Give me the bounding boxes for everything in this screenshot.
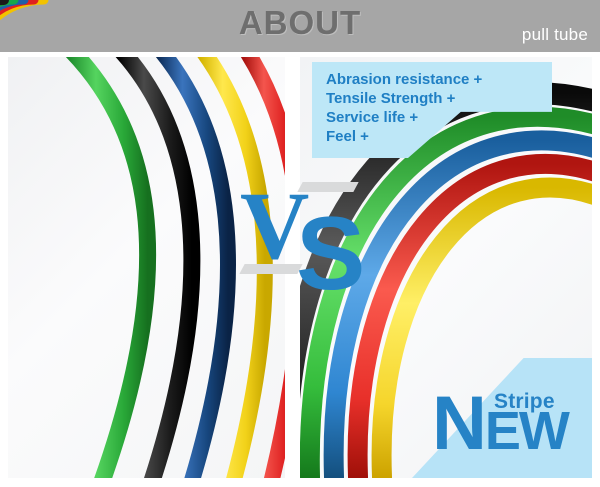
versus-badge: V S	[238, 168, 368, 293]
feature-item: Abrasion resistance +	[326, 70, 482, 89]
header-subtitle: pull tube	[522, 25, 588, 45]
new-label-n: N	[432, 381, 485, 466]
about-banner: ABOUT pull tube	[0, 0, 600, 487]
stripe-label: Stripe	[494, 390, 555, 414]
banner-header: ABOUT pull tube	[0, 0, 600, 52]
new-badge: NEW Stripe	[432, 378, 597, 478]
vs-letter-s: S	[296, 202, 365, 306]
page-title: ABOUT	[0, 4, 600, 42]
feature-item: Tensile Strength +	[326, 89, 482, 108]
